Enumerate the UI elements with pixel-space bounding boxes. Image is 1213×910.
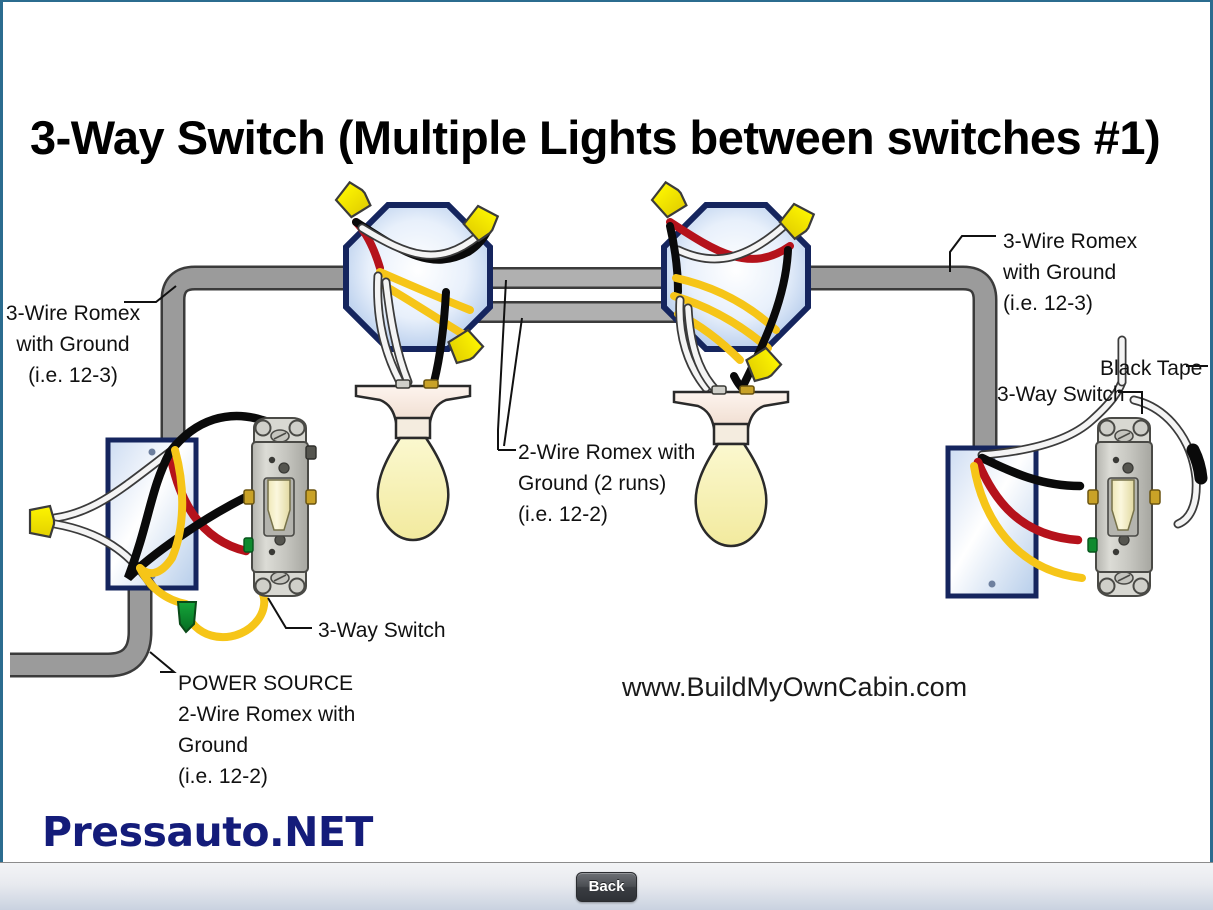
switch-left — [244, 418, 316, 596]
switch-right — [1088, 418, 1160, 596]
label-switch-left: 3-Way Switch — [318, 619, 446, 643]
back-button[interactable]: Back — [576, 872, 637, 902]
label-romex-center: 2-Wire Romex with Ground (2 runs) (i.e. … — [518, 437, 748, 530]
light-fixture-left — [356, 380, 470, 540]
label-black-tape: Black Tape — [1100, 357, 1202, 381]
label-switch-right: 3-Way Switch — [997, 383, 1125, 407]
page-title: 3-Way Switch (Multiple Lights between sw… — [30, 110, 1160, 165]
watermark: Pressauto.NET — [42, 808, 373, 856]
diagram-page: 3-Way Switch (Multiple Lights between sw… — [0, 0, 1213, 910]
label-romex-right: 3-Wire Romex with Ground (i.e. 12-3) — [1003, 226, 1203, 319]
website-credit: www.BuildMyOwnCabin.com — [622, 672, 967, 703]
label-romex-left: 3-Wire Romex with Ground (i.e. 12-3) — [0, 298, 148, 391]
label-power-source: POWER SOURCE 2-Wire Romex with Ground (i… — [178, 668, 438, 792]
bottom-toolbar: Back — [0, 862, 1213, 910]
